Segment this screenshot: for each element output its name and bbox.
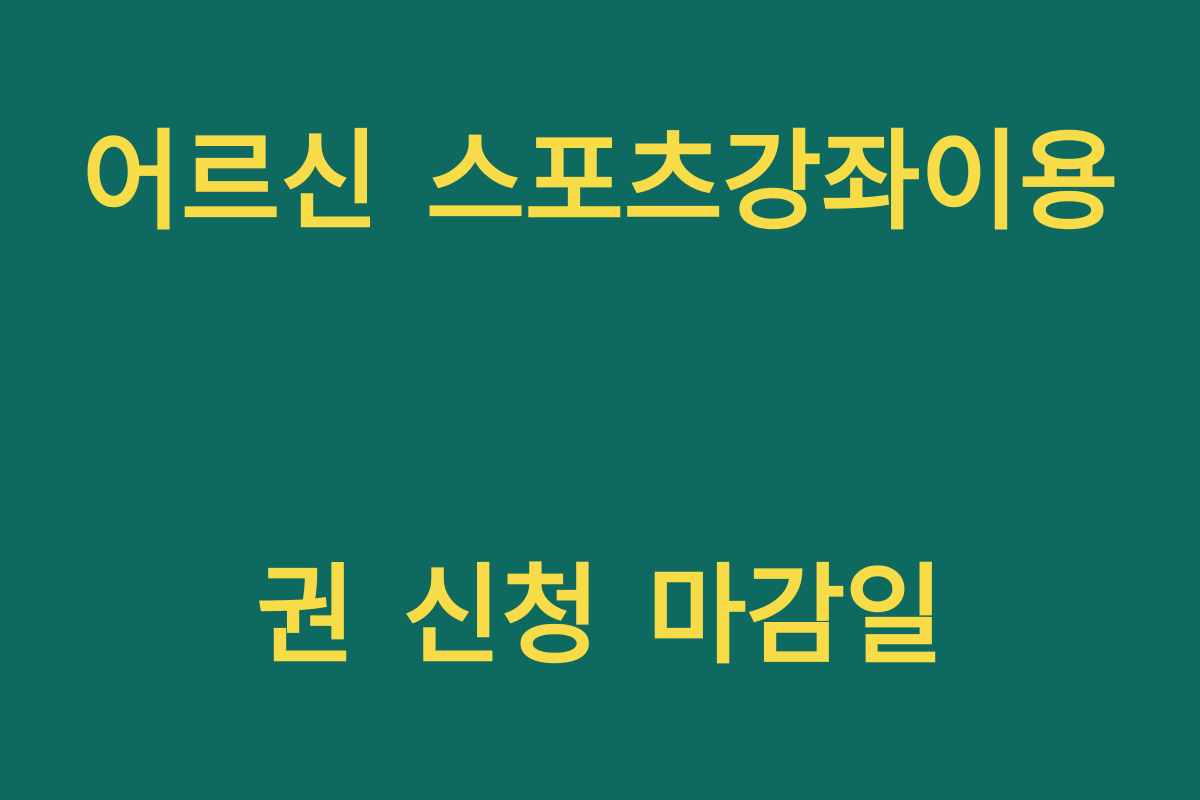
text-banner: 어르신 스포츠강좌이용 권 신청 마감일 (0, 0, 1200, 800)
headline: 어르신 스포츠강좌이용 권 신청 마감일 (80, 0, 1120, 800)
headline-line-2: 권 신청 마감일 (80, 545, 1120, 690)
headline-line-1: 어르신 스포츠강좌이용 (80, 111, 1120, 256)
